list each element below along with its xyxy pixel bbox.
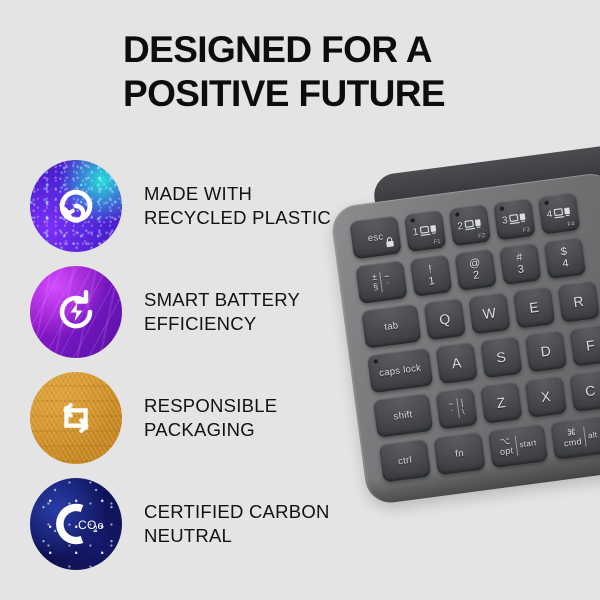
key-3[interactable]: #3: [499, 242, 542, 285]
keyboard-body: esc1F12F23F34F4±§~`!1@2#3$4tabQWERcaps l…: [329, 171, 600, 506]
key-legend: 4: [546, 206, 572, 220]
key-legend: X: [540, 388, 552, 405]
key-cmd-alt[interactable]: ⌘cmdalt: [550, 415, 600, 460]
feature-label: SMART BATTERY EFFICIENCY: [144, 288, 300, 335]
key-function-label: F3: [523, 227, 531, 234]
key-4[interactable]: $4: [544, 237, 587, 280]
key-legend: ±§~`: [371, 271, 391, 293]
key-legend: ⌥optstart: [498, 433, 538, 458]
key-legend: W: [482, 304, 497, 322]
key-w[interactable]: W: [468, 292, 511, 335]
key-2[interactable]: 2F2: [448, 204, 491, 247]
poster-canvas: DESIGNED FOR A POSITIVE FUTURE MADE WITH…: [0, 0, 600, 600]
feature-label: RESPONSIBLE PACKAGING: [144, 394, 277, 441]
key-esc[interactable]: esc: [349, 215, 402, 259]
key-legend: ctrl: [397, 454, 412, 467]
key-legend: shift: [393, 409, 413, 422]
lock-icon: [385, 236, 396, 251]
key-s[interactable]: S: [480, 336, 523, 379]
key-caps-lock[interactable]: caps lock: [367, 347, 433, 393]
key-legend: tab: [384, 320, 399, 333]
key-legend: !1: [426, 263, 436, 288]
key-legend: $4: [560, 245, 570, 270]
battery-efficiency-icon: [30, 266, 122, 358]
key-shift[interactable]: shift: [373, 393, 433, 438]
feature-label: CERTIFIED CARBON NEUTRAL: [144, 500, 330, 547]
key-a[interactable]: A: [435, 342, 478, 385]
feature-list: MADE WITH RECYCLED PLASTIC SMART BATTERY…: [30, 153, 370, 577]
key-fn[interactable]: fn: [433, 431, 486, 475]
key-function-label: F4: [567, 221, 575, 228]
key-indicator-dot: [544, 201, 548, 205]
key-legend: D: [540, 343, 552, 360]
carbon-neutral-icon: CO 2 e: [30, 478, 122, 570]
key-legend: Q: [438, 310, 451, 327]
key-indicator-dot: [455, 212, 459, 216]
key-d[interactable]: D: [525, 330, 568, 373]
key-3[interactable]: 3F3: [493, 198, 536, 241]
key-legend: esc: [367, 231, 384, 244]
page-title: DESIGNED FOR A POSITIVE FUTURE: [123, 28, 543, 115]
key-legend: F: [585, 337, 596, 354]
key-x[interactable]: X: [525, 375, 568, 418]
key-legend: @2: [468, 257, 483, 283]
key-legend: E: [528, 299, 540, 316]
feature-item-smart-battery: SMART BATTERY EFFICIENCY: [30, 259, 370, 365]
key-1[interactable]: !1: [410, 254, 453, 297]
key-q[interactable]: Q: [424, 298, 467, 341]
feature-item-responsible-packaging: RESPONSIBLE PACKAGING: [30, 365, 370, 471]
key-[interactable]: ~`|\: [435, 387, 478, 430]
key-legend: A: [451, 354, 463, 371]
key-function-label: F1: [433, 239, 441, 246]
feature-label: MADE WITH RECYCLED PLASTIC: [144, 182, 331, 229]
key-f[interactable]: F: [569, 324, 600, 367]
key-1[interactable]: 1F1: [404, 210, 447, 253]
svg-text:e: e: [98, 520, 104, 532]
key-legend: S: [495, 348, 507, 365]
key-legend: caps lock: [378, 362, 421, 378]
keyboard-product-image: esc1F12F23F34F4±§~`!1@2#3$4tabQWERcaps l…: [326, 143, 600, 515]
key-4[interactable]: 4F4: [538, 192, 581, 235]
key-legend: 3: [501, 212, 527, 226]
packaging-loop-icon: [30, 372, 122, 464]
key-legend: R: [572, 293, 584, 310]
key-z[interactable]: Z: [480, 381, 523, 424]
key-indicator-dot: [410, 218, 414, 222]
key-function-label: F2: [478, 233, 486, 240]
key-indicator-dot: [374, 359, 378, 363]
key-tab[interactable]: tab: [361, 304, 421, 349]
feature-item-carbon-neutral: CO 2 e CERTIFIED CARBON NEUTRAL: [30, 471, 370, 577]
key-e[interactable]: E: [513, 286, 556, 329]
key-opt-start[interactable]: ⌥optstart: [488, 423, 548, 468]
key-legend: ~`|\: [448, 397, 466, 419]
feature-item-recycled-plastic: MADE WITH RECYCLED PLASTIC: [30, 153, 370, 259]
key-[interactable]: ±§~`: [355, 260, 408, 304]
key-ctrl[interactable]: ctrl: [379, 439, 432, 483]
keyboard-rows: esc1F12F23F34F4±§~`!1@2#3$4tabQWERcaps l…: [349, 185, 600, 489]
key-legend: Z: [496, 394, 507, 411]
key-2[interactable]: @2: [454, 248, 497, 291]
key-legend: #3: [515, 251, 525, 276]
key-r[interactable]: R: [557, 280, 600, 323]
key-legend: 1: [412, 224, 438, 238]
key-indicator-dot: [500, 207, 504, 211]
key-legend: C: [584, 382, 596, 399]
recycled-plastic-icon: [30, 160, 122, 252]
key-legend: fn: [455, 447, 465, 459]
key-legend: ⌘cmdalt: [562, 425, 599, 449]
key-legend: 2: [457, 218, 483, 232]
key-c[interactable]: C: [569, 369, 600, 412]
